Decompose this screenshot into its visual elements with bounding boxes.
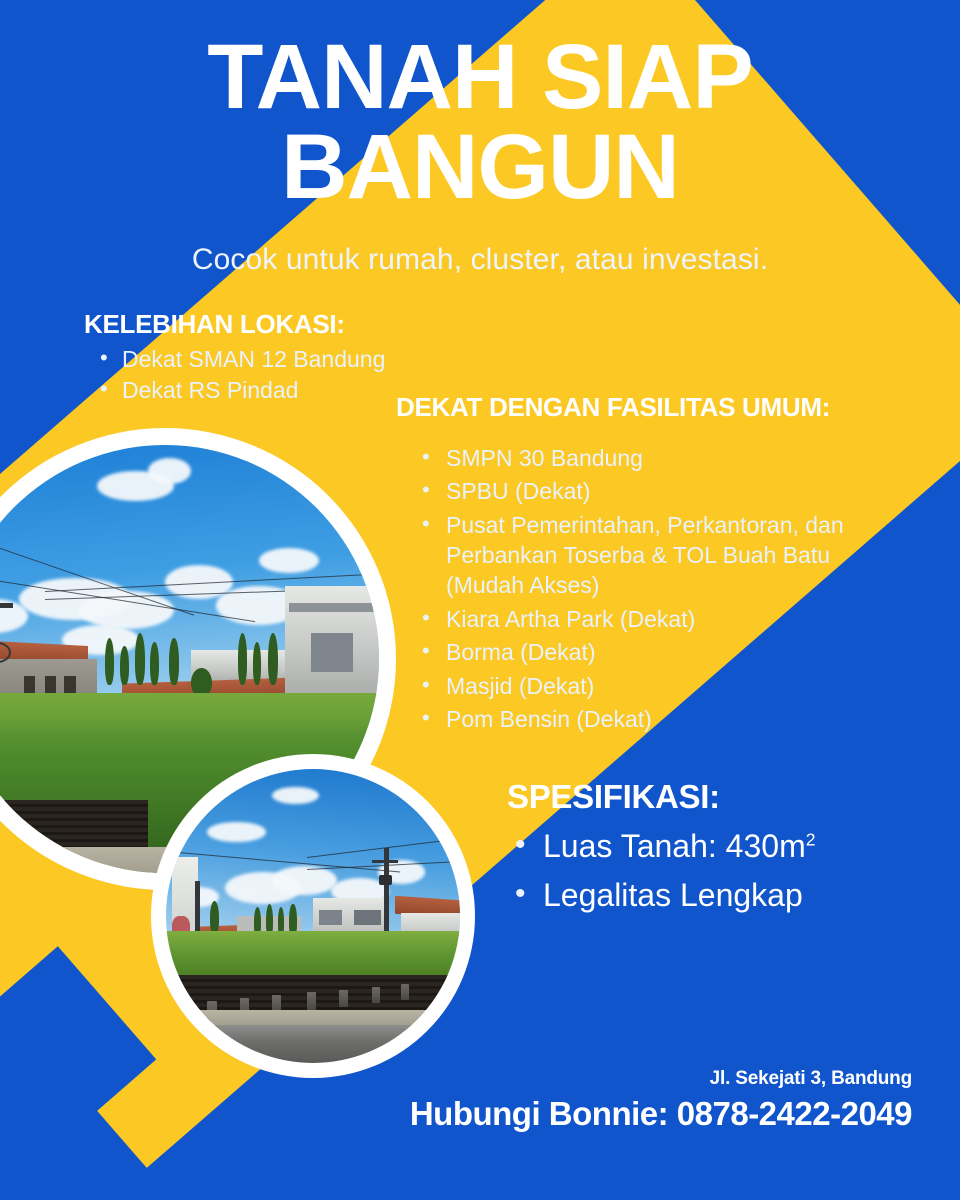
fasilitas-list: SMPN 30 Bandung SPBU (Dekat) Pusat Pemer… xyxy=(396,443,906,734)
tree xyxy=(169,638,178,685)
list-item: Borma (Dekat) xyxy=(446,637,906,667)
cloud-icon xyxy=(272,866,337,895)
spesifikasi-list: Luas Tanah: 430m2 Legalitas Lengkap xyxy=(507,822,907,919)
cloud-icon xyxy=(272,787,319,805)
contact-phone[interactable]: Hubungi Bonnie: 0878-2422-2049 xyxy=(0,1095,912,1133)
address-text: Jl. Sekejati 3, Bandung xyxy=(0,1068,912,1090)
list-item: Masjid (Dekat) xyxy=(446,671,906,701)
tree xyxy=(120,646,129,685)
bollard xyxy=(372,987,380,1003)
section-spesifikasi: SPESIFIKASI: Luas Tanah: 430m2 Legalitas… xyxy=(507,778,907,920)
title-line-1: TANAH SIAP xyxy=(207,26,752,128)
list-item: Dekat SMAN 12 Bandung xyxy=(122,344,464,374)
vacant-land-roadside-view-image xyxy=(166,769,460,1063)
pole-crossarm xyxy=(0,603,13,608)
luas-tanah-text: Luas Tanah: 430m xyxy=(543,828,806,864)
street-lamp xyxy=(379,875,392,885)
dark-fence xyxy=(0,800,148,851)
list-item: Kiara Artha Park (Dekat) xyxy=(446,604,906,634)
list-item: Pusat Pemerintahan, Perkantoran, dan Per… xyxy=(446,510,906,601)
grass-top-blend xyxy=(0,693,379,736)
tree xyxy=(210,901,219,933)
subtitle: Cocok untuk rumah, cluster, atau investa… xyxy=(0,243,960,277)
tree xyxy=(150,642,159,685)
asphalt-road xyxy=(166,1025,460,1063)
list-item: Pom Bensin (Dekat) xyxy=(446,704,906,734)
section-fasilitas-umum: DEKAT DENGAN FASILITAS UMUM: SMPN 30 Ban… xyxy=(396,392,906,737)
poster-canvas: TANAH SIAP BANGUN Cocok untuk rumah, clu… xyxy=(0,0,960,1200)
tree xyxy=(253,642,262,685)
list-item: SMPN 30 Bandung xyxy=(446,443,906,473)
house-trim xyxy=(289,603,379,612)
tree xyxy=(268,633,278,684)
pole-crossarm xyxy=(372,860,398,863)
list-item: SPBU (Dekat) xyxy=(446,476,906,506)
tree xyxy=(238,633,247,684)
bollard xyxy=(307,992,316,1010)
square-meter-superscript: 2 xyxy=(806,829,816,849)
bollard xyxy=(401,984,409,1000)
footer-contact: Jl. Sekejati 3, Bandung Hubungi Bonnie: … xyxy=(0,1068,912,1133)
cloud-icon xyxy=(148,458,191,484)
bollard xyxy=(339,990,348,1008)
photo-circle-small xyxy=(151,754,475,1078)
section-heading-kelebihan: KELEBIHAN LOKASI: xyxy=(84,309,464,340)
tree xyxy=(135,633,145,684)
section-heading-fasilitas: DEKAT DENGAN FASILITAS UMUM: xyxy=(396,392,906,423)
list-item: Legalitas Lengkap xyxy=(543,871,907,919)
page-title: TANAH SIAP BANGUN xyxy=(0,32,960,212)
window xyxy=(354,910,380,925)
section-heading-spesifikasi: SPESIFIKASI: xyxy=(507,778,907,816)
window xyxy=(311,633,354,672)
title-line-2: BANGUN xyxy=(0,122,960,212)
photo-scene xyxy=(166,769,460,1063)
list-item: Luas Tanah: 430m2 xyxy=(543,822,907,870)
window xyxy=(319,910,343,925)
